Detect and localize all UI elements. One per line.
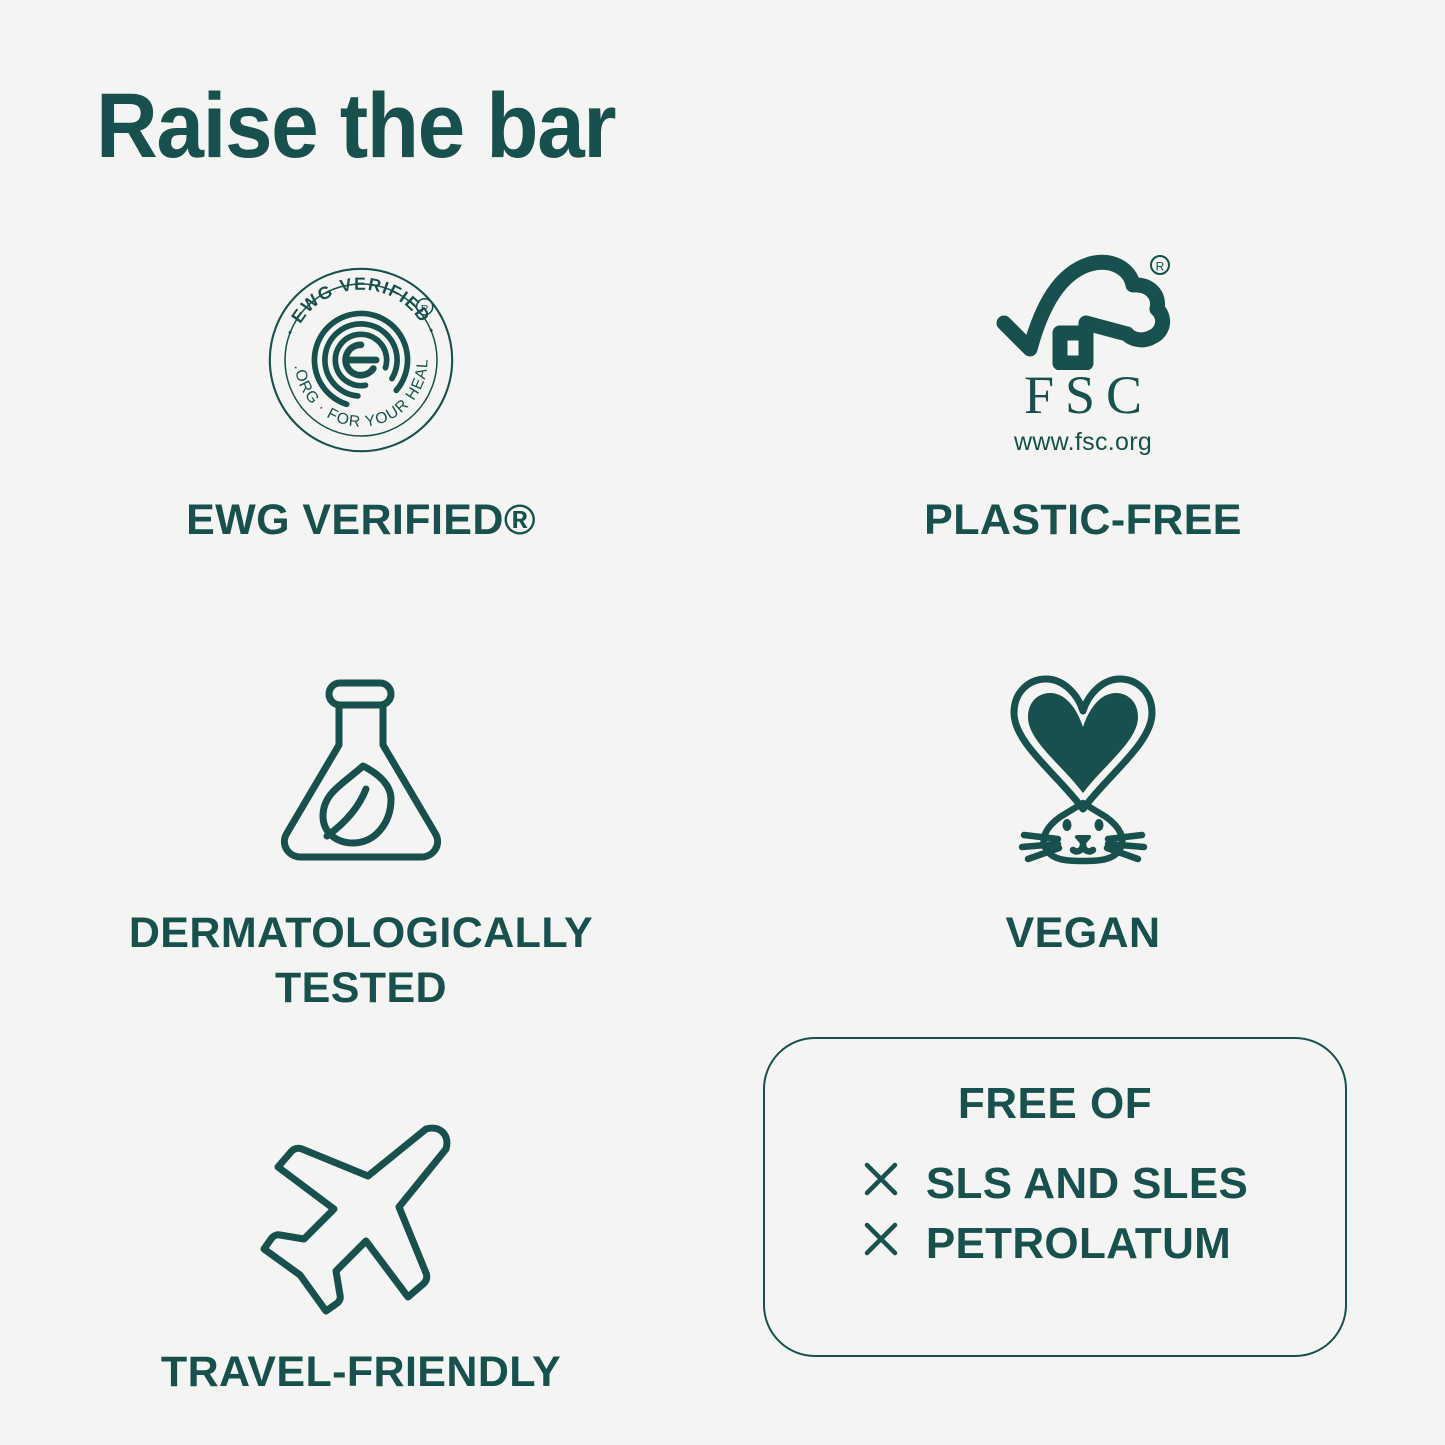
free-of-item-text: PETROLATUM: [926, 1219, 1231, 1269]
page-title: Raise the bar: [96, 78, 615, 175]
badge-dermatologically-tested: DERMATOLOGICALLY TESTED: [0, 666, 722, 1016]
badge-ewg-verified: · EWG VERIFIED · EWG.ORG · FOR YOUR HEAL…: [0, 255, 722, 548]
fsc-icon-slot: R FSC www.fsc.org: [994, 255, 1172, 455]
bunny-eye-right: [1095, 819, 1104, 831]
ewg-verified-seal-icon: · EWG VERIFIED · EWG.ORG · FOR YOUR HEAL…: [266, 265, 456, 455]
flask-with-leaf-icon: [271, 671, 451, 866]
fsc-tree-checkmark-icon: R: [994, 245, 1172, 370]
badge-row-1: · EWG VERIFIED · EWG.ORG · FOR YOUR HEAL…: [0, 255, 1445, 548]
badge-label-vegan: VEGAN: [1006, 906, 1161, 961]
free-of-box: FREE OF SLS AND SLES PETROLATUM: [763, 1037, 1347, 1357]
ewg-icon-slot: · EWG VERIFIED · EWG.ORG · FOR YOUR HEAL…: [266, 255, 456, 455]
svg-text:R: R: [1156, 260, 1165, 274]
bunny-icon-slot: [988, 666, 1178, 866]
free-of-list: SLS AND SLES PETROLATUM: [862, 1159, 1248, 1269]
free-of-title: FREE OF: [958, 1079, 1152, 1129]
x-icon: [862, 1159, 900, 1209]
badge-travel-friendly: TRAVEL-FRIENDLY: [0, 1102, 722, 1400]
free-of-item: SLS AND SLES: [862, 1159, 1248, 1209]
badge-label-travel-friendly: TRAVEL-FRIENDLY: [161, 1345, 561, 1400]
fsc-logo: R FSC www.fsc.org: [994, 245, 1172, 455]
badge-label-dermatologically-tested: DERMATOLOGICALLY TESTED: [129, 906, 593, 1016]
free-of-item-text: SLS AND SLES: [926, 1159, 1248, 1209]
free-of-item: PETROLATUM: [862, 1219, 1248, 1269]
svg-text:R: R: [421, 304, 429, 315]
heart-eared-bunny-icon: [988, 671, 1178, 866]
badge-row-2: DERMATOLOGICALLY TESTED: [0, 666, 1445, 1016]
badge-label-ewg-verified: EWG VERIFIED®: [186, 493, 536, 548]
airplane-icon-slot: [254, 1102, 469, 1317]
svg-text:· EWG VERIFIED ·: · EWG VERIFIED ·: [280, 274, 443, 339]
badge-plastic-free: R FSC www.fsc.org PLASTIC-FREE: [722, 255, 1444, 548]
fsc-url: www.fsc.org: [1014, 430, 1152, 455]
bunny-eye-left: [1063, 819, 1072, 831]
fsc-wordmark: FSC: [1013, 368, 1153, 422]
infographic-page: Raise the bar ·: [0, 0, 1445, 1445]
airplane-icon: [254, 1107, 469, 1317]
flask-icon-slot: [271, 666, 451, 866]
badge-vegan: VEGAN: [722, 666, 1444, 1016]
x-icon: [862, 1219, 900, 1269]
badge-label-plastic-free: PLASTIC-FREE: [924, 493, 1242, 548]
